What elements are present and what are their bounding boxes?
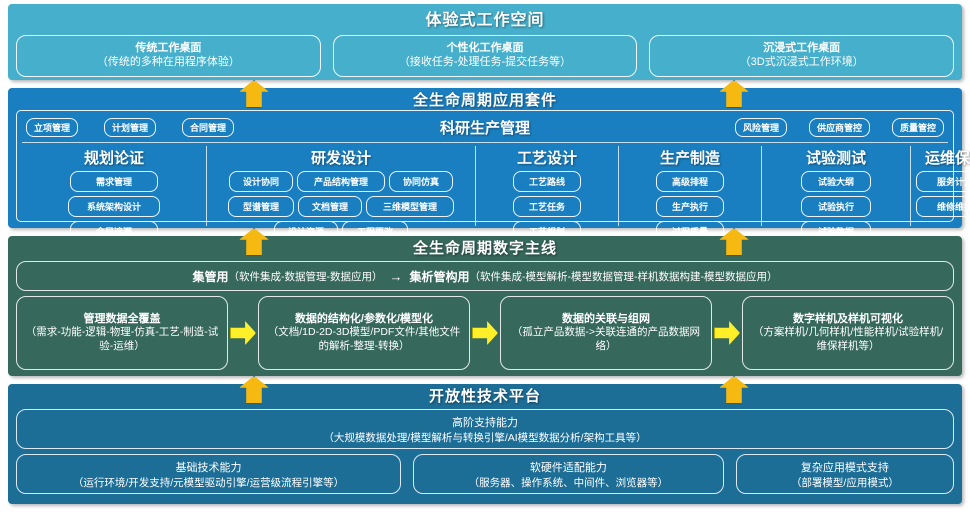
card-desc: （传统的多种在用程序体验） [97,56,240,70]
platform-card-complex-app-mode[interactable]: 复杂应用模式支持 （部署模型/应用模式） [736,454,954,494]
card-desc: （文档/1D-2D-3D模型/PDF文件/其他文件的解析-整理-转换） [265,326,463,354]
platform-band-title: 开放性技术平台 [16,387,954,406]
chip-system-architecture-design[interactable]: 系统架构设计 [68,196,160,217]
column-title: 研发设计 [311,147,371,168]
thread-subtitle-right-bold: 集析管构用 [410,268,470,285]
suite-column-manufacturing: 生产制造 高级排程 生产执行 过程质量 物料配送 [619,146,762,226]
chip-quality-control[interactable]: 质量管控 [892,118,944,137]
chip-test-execution[interactable]: 试验执行 [801,196,871,217]
thread-card-structuring[interactable]: 数据的结构化/参数化/模型化 （文档/1D-2D-3D模型/PDF文件/其他文件… [258,296,470,370]
suite-column-rnd-design: 研发设计 设计协同 产品结构管理 协同仿真 型谱管理 文档管理 三维模型管理 设… [207,146,476,226]
research-production-management-row: 立项管理 计划管理 合同管理 科研生产管理 风险管理 供应商管控 质量管控 [22,115,948,143]
chip-model-series-management[interactable]: 型谱管理 [228,196,294,217]
chip-maintenance-repair[interactable]: 维修维护 [916,196,970,217]
platform-card-row: 基础技术能力 （运行环境/开发支持/元模型驱动引擎/运营级流程引擎等） 软硬件适… [16,454,954,494]
thread-band-title: 全生命周期数字主线 [16,239,954,258]
card-title: 数字样机及样机可视化 [793,312,903,326]
thread-card-data-coverage[interactable]: 管理数据全覆盖 （需求-功能-逻辑-物理-仿真-工艺-制造-试验-运维） [16,296,228,370]
thread-subtitle-left-bold: 集管用 [192,268,228,285]
column-title: 运维保障 [925,147,970,168]
card-desc: （大规模数据处理/模型解析与转换引擎/AI模型数据分析/架构工具等） [323,430,646,445]
thread-subtitle-bar: 集管用 （软件集成-数据管理-数据应用） → 集析管构用 （软件集成-模型解析-… [16,261,954,291]
experience-card-immersive[interactable]: 沉浸式工作桌面 （3D式沉浸式工作环境） [649,35,954,77]
application-suite-band: 全生命周期应用套件 立项管理 计划管理 合同管理 科研生产管理 风险管理 供应商… [8,88,962,228]
card-title: 沉浸式工作桌面 [763,42,840,56]
arrow-right-icon [472,321,498,345]
chip-project-initiation[interactable]: 立项管理 [26,118,78,137]
card-desc: （方案样机/几何样机/性能样机/试验样机/维保样机等） [749,326,947,354]
card-desc: （部署模型/应用模式） [791,475,899,490]
card-desc: （需求-功能-逻辑-物理-仿真-工艺-制造-试验-运维） [23,326,221,354]
arrow-right-icon [230,321,256,345]
card-title: 数据的关联与组网 [562,312,650,326]
chip-test-outline[interactable]: 试验大纲 [801,171,871,192]
digital-thread-band: 全生命周期数字主线 集管用 （软件集成-数据管理-数据应用） → 集析管构用 （… [8,236,962,376]
card-title: 复杂应用模式支持 [801,459,889,475]
chip-supplier-control[interactable]: 供应商管控 [809,118,870,137]
card-title: 数据的结构化/参数化/模型化 [295,312,433,326]
chip-risk-management[interactable]: 风险管理 [735,118,787,137]
card-title: 传统工作桌面 [135,42,201,56]
architecture-diagram: 体验式工作空间 传统工作桌面 （传统的多种在用程序体验） 个性化工作桌面 （接收… [0,0,970,525]
thread-subtitle-right-detail: （软件集成-模型解析-模型数据管理-样机数据构建-模型数据应用） [470,269,778,284]
card-desc: （运行环境/开发支持/元模型驱动引擎/运营级流程引擎等） [73,475,344,490]
column-title: 试验测试 [806,147,866,168]
chip-document-management[interactable]: 文档管理 [298,196,362,217]
experience-band-title: 体验式工作空间 [16,8,954,31]
experience-card-personalized[interactable]: 个性化工作桌面 （接收任务-处理任务-提交任务等） [333,35,638,77]
suite-column-process-design: 工艺设计 工艺路线 工艺任务 工艺规划 工艺知识 [476,146,619,226]
chip-plan-management[interactable]: 计划管理 [104,118,156,137]
card-desc: （服务器、操作系统、中间件、浏览器等） [469,475,669,490]
column-title: 工艺设计 [517,147,577,168]
open-technology-platform-band: 开放性技术平台 高阶支持能力 （大规模数据处理/模型解析与转换引擎/AI模型数据… [8,384,962,504]
experience-card-row: 传统工作桌面 （传统的多种在用程序体验） 个性化工作桌面 （接收任务-处理任务-… [16,35,954,77]
suite-column-ops-support: 运维保障 服务计划 维修维护 [911,146,970,226]
suite-column-planning: 规划论证 需求管理 系统架构设计 全局追溯 系统仿真验证 [22,146,207,226]
thread-card-association-network[interactable]: 数据的关联与组网 （孤立产品数据->关联连通的产品数据网络） [500,296,712,370]
card-title: 基础技术能力 [175,459,241,475]
card-desc: （孤立产品数据->关联连通的产品数据网络） [507,326,705,354]
experience-card-traditional[interactable]: 传统工作桌面 （传统的多种在用程序体验） [16,35,321,77]
chip-process-route[interactable]: 工艺路线 [513,171,581,192]
experience-workspace-band: 体验式工作空间 传统工作桌面 （传统的多种在用程序体验） 个性化工作桌面 （接收… [8,4,962,80]
thread-card-digital-prototype[interactable]: 数字样机及样机可视化 （方案样机/几何样机/性能样机/试验样机/维保样机等） [742,296,954,370]
chip-collaborative-simulation[interactable]: 协同仿真 [389,171,453,192]
chip-design-collaboration[interactable]: 设计协同 [229,171,293,192]
chip-contract-management[interactable]: 合同管理 [182,118,234,137]
card-desc: （接收任务-处理任务-提交任务等） [399,56,571,70]
thread-subtitle-left-detail: （软件集成-数据管理-数据应用） [229,269,383,284]
card-title: 个性化工作桌面 [447,42,524,56]
mgmt-right-chip-group: 风险管理 供应商管控 质量管控 [735,118,948,137]
chip-advanced-scheduling[interactable]: 高级排程 [656,171,724,192]
chip-3d-model-management[interactable]: 三维模型管理 [366,196,454,217]
card-title: 软硬件适配能力 [530,459,607,475]
chip-service-plan[interactable]: 服务计划 [916,171,970,192]
suite-band-title: 全生命周期应用套件 [16,91,954,110]
chip-requirement-management[interactable]: 需求管理 [70,171,158,192]
chip-process-task[interactable]: 工艺任务 [513,196,581,217]
arrow-right-glyph-icon: → [390,269,403,284]
card-desc: （3D式沉浸式工作环境） [740,56,864,70]
chip-production-execution[interactable]: 生产执行 [656,196,724,217]
platform-card-basic-tech[interactable]: 基础技术能力 （运行环境/开发支持/元模型驱动引擎/运营级流程引擎等） [16,454,401,494]
suite-inner-frame: 立项管理 计划管理 合同管理 科研生产管理 风险管理 供应商管控 质量管控 规划… [16,110,954,222]
platform-advanced-support-card[interactable]: 高阶支持能力 （大规模数据处理/模型解析与转换引擎/AI模型数据分析/架构工具等… [16,409,954,449]
column-title: 规划论证 [84,147,144,168]
chip-product-structure-management[interactable]: 产品结构管理 [297,171,385,192]
card-title: 管理数据全覆盖 [84,312,161,326]
mgmt-left-chip-group: 立项管理 计划管理 合同管理 [22,118,234,137]
platform-card-hw-sw-adaptation[interactable]: 软硬件适配能力 （服务器、操作系统、中间件、浏览器等） [413,454,724,494]
card-title: 高阶支持能力 [452,414,518,430]
thread-card-row: 管理数据全覆盖 （需求-功能-逻辑-物理-仿真-工艺-制造-试验-运维） 数据的… [16,296,954,370]
suite-column-test: 试验测试 试验大纲 试验执行 试验数据 试验报告 [762,146,911,226]
suite-column-group: 规划论证 需求管理 系统架构设计 全局追溯 系统仿真验证 研发设计 设计协同 产… [22,146,948,226]
column-title: 生产制造 [660,147,720,168]
arrow-right-icon [714,321,740,345]
